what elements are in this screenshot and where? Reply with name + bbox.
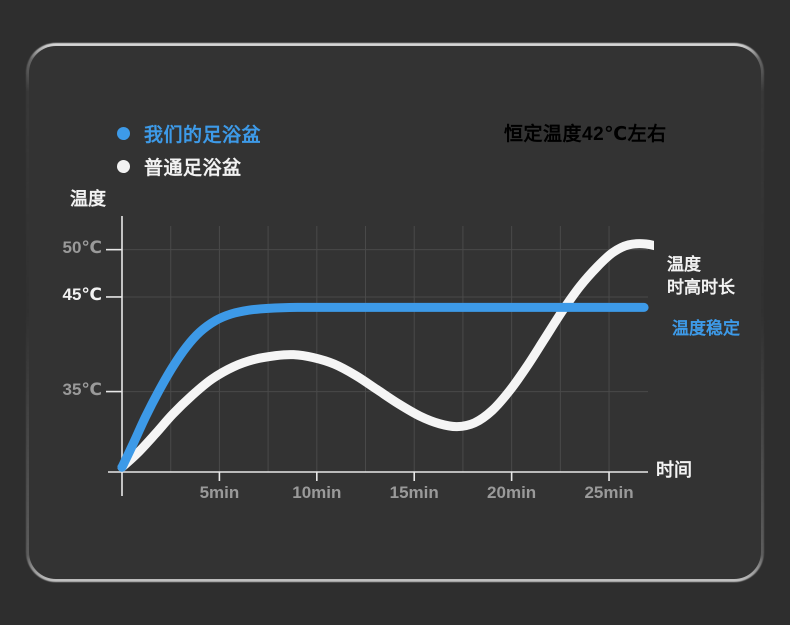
annotation-unstable-line2: 时高时长 xyxy=(667,276,735,299)
y-axis-title: 温度 xyxy=(70,188,106,211)
y-tick-label: 45℃ xyxy=(40,285,102,305)
chart-series xyxy=(122,244,679,468)
annotation-unstable: 温度 时高时长 xyxy=(667,253,735,299)
temperature-chart xyxy=(0,0,790,625)
chart-axes xyxy=(108,216,648,496)
screenshot-root: 我们的足浴盆 普通足浴盆 恒定温度42℃左右 温度 时间 温度 时高时长 温度稳… xyxy=(0,0,790,625)
x-tick-label: 10min xyxy=(267,483,367,503)
x-tick-label: 20min xyxy=(462,483,562,503)
x-tick-label: 15min xyxy=(364,483,464,503)
x-tick-label: 25min xyxy=(559,483,659,503)
y-tick-label: 35℃ xyxy=(40,380,102,400)
y-tick-label: 50℃ xyxy=(40,238,102,258)
x-tick-label: 5min xyxy=(169,483,269,503)
chart-tick-marks xyxy=(106,250,609,481)
annotation-stable: 温度稳定 xyxy=(672,317,740,340)
chart-gridlines xyxy=(122,226,648,472)
annotation-unstable-line1: 温度 xyxy=(667,253,735,276)
x-axis-title: 时间 xyxy=(656,459,692,482)
